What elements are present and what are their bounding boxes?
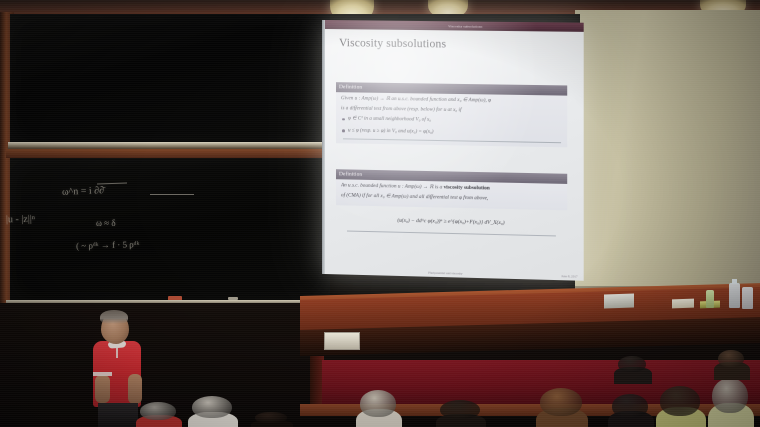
chalk-divider: [150, 194, 194, 195]
definition-1-line-2: is a differential test from above (resp.…: [341, 105, 563, 116]
definition-1-body: Given u : Amp(ω) → ℝ an u.s.c. bounded f…: [336, 92, 567, 147]
right-wall: [575, 10, 760, 295]
attendee-6-head: [540, 388, 582, 416]
papers-on-desk: [672, 299, 694, 309]
chair-back: [604, 293, 634, 308]
screen-edge: [322, 20, 325, 274]
definition-2-heading-label: Definition: [339, 171, 362, 177]
water-bottle: [729, 283, 740, 308]
water-bottle: [742, 287, 753, 309]
attendee-5-head: [440, 400, 480, 419]
attendee-9-head: [712, 378, 748, 413]
presenter-placket: [116, 345, 118, 358]
attendee-1-head: [140, 402, 176, 420]
definition-1-heading-label: Definition: [339, 84, 362, 90]
presenter-trousers: [98, 403, 138, 427]
slide-title: Viscosity subsolutions: [339, 37, 446, 50]
attendee-2-head: [192, 396, 232, 418]
presenter-sleeve-trim: [93, 372, 112, 376]
slide-formula: (u(x₀) − dd^c φ(x₀))ⁿ ≥ e^{φ(x₀)+F(x₀)} …: [336, 216, 567, 227]
box-on-floor: [324, 332, 360, 350]
definition-block-1: Definition Given u : Amp(ω) → ℝ an u.s.c…: [336, 82, 567, 147]
presenter-hair: [100, 310, 128, 324]
slide-footer-center: Pluripotential and viscosity: [428, 271, 462, 276]
chalk-ledge-upper: [8, 142, 334, 149]
definition-1-bullets: φ ∈ C² in a small neighborhood V₀ of x₀ …: [341, 115, 563, 138]
board-rail: [6, 149, 336, 158]
slide-header-bar: Viscosity subsolutions: [325, 20, 584, 32]
slide-footer: Pluripotential and viscosity June 8, 201…: [325, 268, 584, 279]
slide: Viscosity subsolutions Viscosity subsolu…: [325, 20, 584, 281]
attendee-10-head: [618, 356, 646, 372]
green-bottle: [706, 290, 714, 308]
slide-footer-right: June 8, 2017: [561, 274, 577, 278]
attendee-11-head: [718, 350, 744, 367]
list-item: u ≤ φ (resp. u ≥ φ) in V₀ and u(x₀) = φ(…: [341, 127, 563, 138]
lecture-hall-screenshot: ω^n = i ∂∂̄ |u - |z||ⁿ ω ≈ δ ( ~ ρᵈᵏ → f…: [0, 0, 760, 427]
definition-block-2: Definition An u.s.c. bounded function u …: [336, 169, 567, 210]
attendee-3-head: [255, 412, 287, 423]
blackboard-upper: [10, 14, 330, 144]
projection-screen: Viscosity subsolutions Viscosity subsolu…: [325, 20, 584, 281]
attendee-8-head: [660, 386, 700, 416]
definition-2-term: viscosity subsolution: [444, 184, 490, 191]
list-item: φ ∈ C² in a small neighborhood V₀ of x₀: [341, 115, 563, 126]
screen-glare: [325, 20, 584, 281]
definition-2-text-a: An u.s.c. bounded function u : Amp(ω) → …: [341, 182, 444, 190]
blackboard-lower: [10, 158, 330, 303]
slide-header-tab: Viscosity subsolutions: [448, 24, 482, 28]
presenter-arm-right: [128, 374, 142, 404]
formula-rule: [347, 231, 556, 237]
divider: [343, 138, 561, 143]
presenter-arm-left: [95, 375, 110, 403]
attendee-7-head: [612, 394, 648, 418]
attendee-4-head: [360, 390, 396, 417]
definition-2-body: An u.s.c. bounded function u : Amp(ω) → …: [336, 179, 567, 210]
